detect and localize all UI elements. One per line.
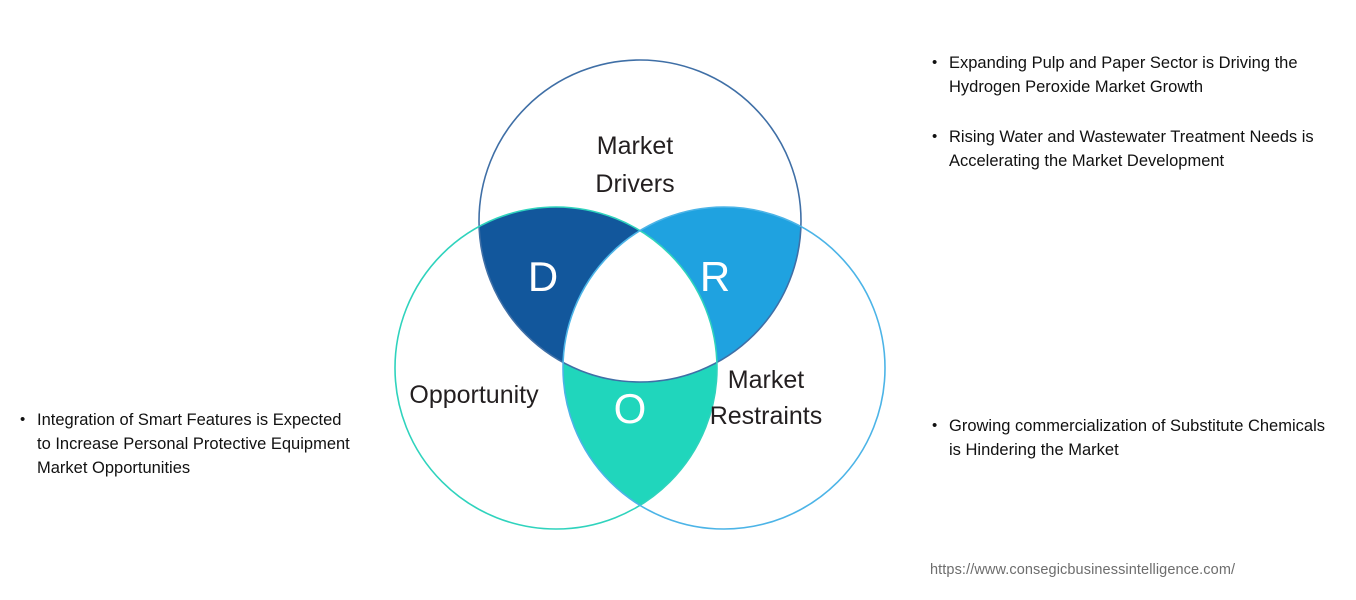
venn-diagram: D R O Market Drivers Opportunity Market … [330,20,930,560]
notes-market-drivers: • Expanding Pulp and Paper Sector is Dri… [930,52,1330,174]
lens-letter-o: O [614,385,647,432]
notes-market-restraints: • Growing commercialization of Substitut… [930,415,1330,463]
circle-label-restraints-line1: Market [728,366,804,394]
circle-label-opportunity: Opportunity [409,381,539,409]
notes-opportunity: • Integration of Smart Features is Expec… [18,409,358,481]
notes-market-drivers-list: • Expanding Pulp and Paper Sector is Dri… [930,52,1330,174]
diagram-page: D R O Market Drivers Opportunity Market … [0,0,1356,600]
note-item: • Expanding Pulp and Paper Sector is Dri… [930,52,1330,100]
lens-letter-d: D [528,253,558,300]
bullet-icon: • [932,52,937,74]
note-item: • Rising Water and Wastewater Treatment … [930,126,1330,174]
note-text: Rising Water and Wastewater Treatment Ne… [949,128,1314,170]
venn-svg: D R O Market Drivers Opportunity Market … [330,20,930,560]
note-text: Growing commercialization of Substitute … [949,417,1325,459]
circle-label-restraints-line2: Restraints [710,402,823,430]
source-url[interactable]: https://www.consegicbusinessintelligence… [930,562,1235,578]
circle-label-drivers-line2: Drivers [595,170,674,198]
bullet-icon: • [932,415,937,437]
bullet-icon: • [20,409,25,431]
notes-opportunity-list: • Integration of Smart Features is Expec… [18,409,358,481]
circle-label-drivers-line1: Market [597,132,673,160]
lens-letter-r: R [700,253,730,300]
note-item: • Integration of Smart Features is Expec… [18,409,358,481]
note-item: • Growing commercialization of Substitut… [930,415,1330,463]
note-text: Expanding Pulp and Paper Sector is Drivi… [949,54,1298,96]
note-text: Integration of Smart Features is Expecte… [37,411,350,477]
bullet-icon: • [932,126,937,148]
notes-market-restraints-list: • Growing commercialization of Substitut… [930,415,1330,463]
